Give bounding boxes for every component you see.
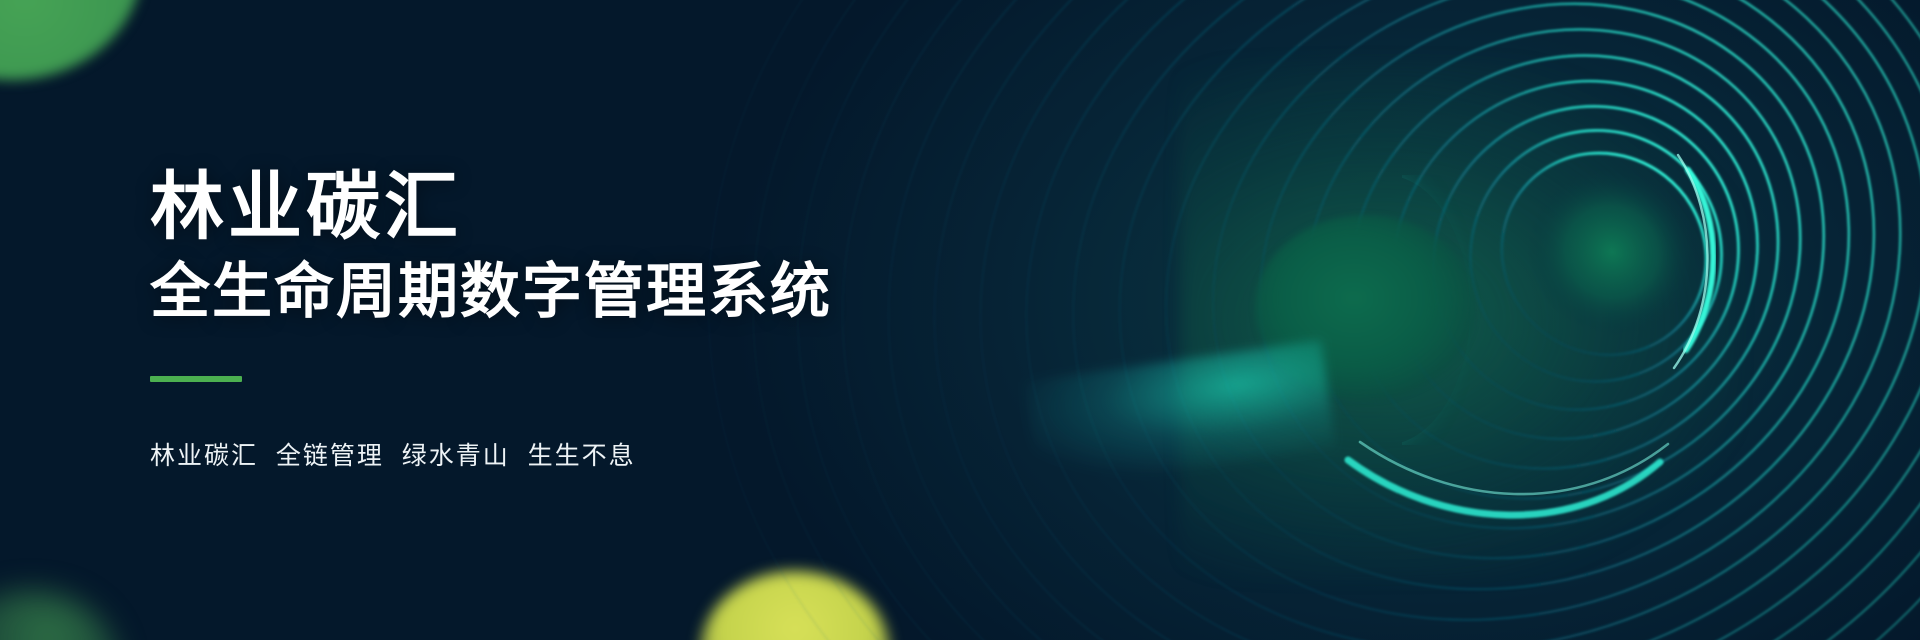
hero-tagline: 林业碳汇 全链管理 绿水青山 生生不息 — [150, 436, 832, 472]
vortex-core-glow-icon — [1255, 215, 1475, 400]
concentric-rings-vortex-icon — [660, 0, 1920, 640]
hero-banner: 林业碳汇 全生命周期数字管理系统 林业碳汇 全链管理 绿水青山 生生不息 — [0, 0, 1920, 640]
page-subtitle: 全生命周期数字管理系统 — [150, 257, 832, 326]
page-title: 林业碳汇 — [150, 168, 832, 246]
hero-text-block: 林业碳汇 全生命周期数字管理系统 林业碳汇 全链管理 绿水青山 生生不息 — [150, 0, 832, 640]
green-circle-blob-icon — [0, 0, 142, 80]
green-accent-bar-icon — [150, 376, 242, 382]
green-corner-glow-icon — [0, 590, 120, 640]
green-field-glow-icon — [1180, 60, 1740, 580]
vortex-sweep-glow-icon — [1024, 340, 1336, 491]
vortex-highlight-arc-icon — [1300, 175, 1470, 445]
